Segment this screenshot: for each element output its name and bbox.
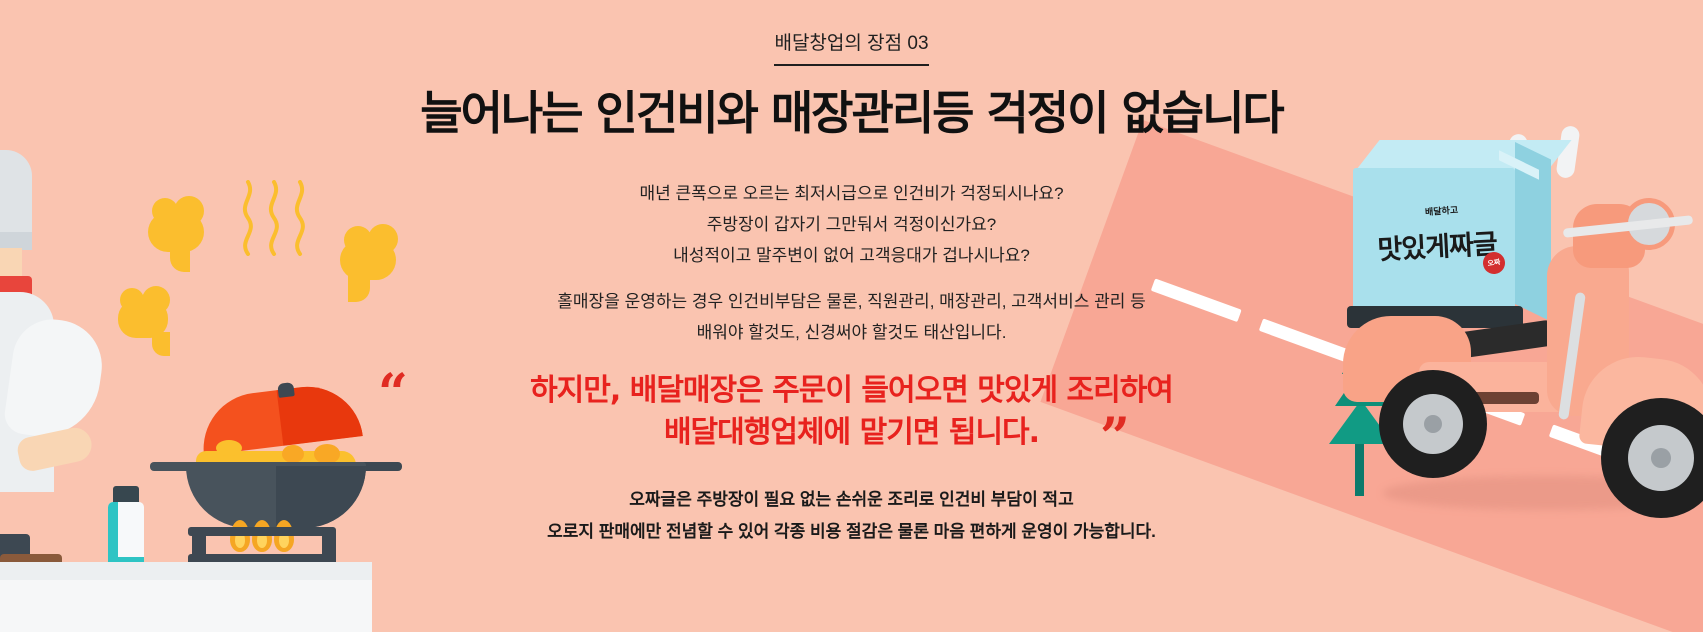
page-title: 늘어나는 인건비와 매장관리등 걱정이 없습니다	[0, 88, 1703, 139]
question-line-2: 주방장이 갑자기 그만둬서 걱정이신가요?	[0, 209, 1703, 240]
question-line-3: 내성적이고 말주변이 없어 고객응대가 겁나시나요?	[0, 240, 1703, 271]
quote-line-2: 배달대행업체에 맡기면 됩니다.	[0, 412, 1703, 454]
promo-banner: 배달하고 맛있게짜글 오짜 배달창업의 장점 03	[0, 0, 1703, 632]
highlight-quote: 하지만, 배달매장은 주문이 들어오면 맛있게 조리하여 배달대행업체에 맡기면…	[0, 370, 1703, 454]
eyebrow-label: 배달창업의 장점 03	[0, 28, 1703, 66]
benefit-line-1: 오짜글은 주방장이 필요 없는 손쉬운 조리로 인건비 부담이 적고	[0, 484, 1703, 516]
questions-paragraph: 매년 큰폭으로 오르는 최저시급으로 인건비가 걱정되시나요? 주방장이 갑자기…	[0, 178, 1703, 271]
burden-line-1: 홀매장을 운영하는 경우 인건비부담은 물론, 직원관리, 매장관리, 고객서비…	[0, 286, 1703, 317]
benefit-line-2: 오로지 판매에만 전념할 수 있어 각종 비용 절감은 물론 마음 편하게 운영…	[0, 516, 1703, 548]
quote-close-mark: ”	[1100, 412, 1130, 464]
question-line-1: 매년 큰폭으로 오르는 최저시급으로 인건비가 걱정되시나요?	[0, 178, 1703, 209]
quote-line-1: 하지만, 배달매장은 주문이 들어오면 맛있게 조리하여	[0, 370, 1703, 412]
burden-line-2: 배워야 할것도, 신경써야 할것도 태산입니다.	[0, 317, 1703, 348]
banner-content: 배달창업의 장점 03 늘어나는 인건비와 매장관리등 걱정이 없습니다 매년 …	[0, 0, 1703, 632]
eyebrow-text: 배달창업의 장점 03	[774, 28, 928, 66]
burden-paragraph: 홀매장을 운영하는 경우 인건비부담은 물론, 직원관리, 매장관리, 고객서비…	[0, 286, 1703, 348]
benefit-paragraph: 오짜글은 주방장이 필요 없는 손쉬운 조리로 인건비 부담이 적고 오로지 판…	[0, 484, 1703, 548]
